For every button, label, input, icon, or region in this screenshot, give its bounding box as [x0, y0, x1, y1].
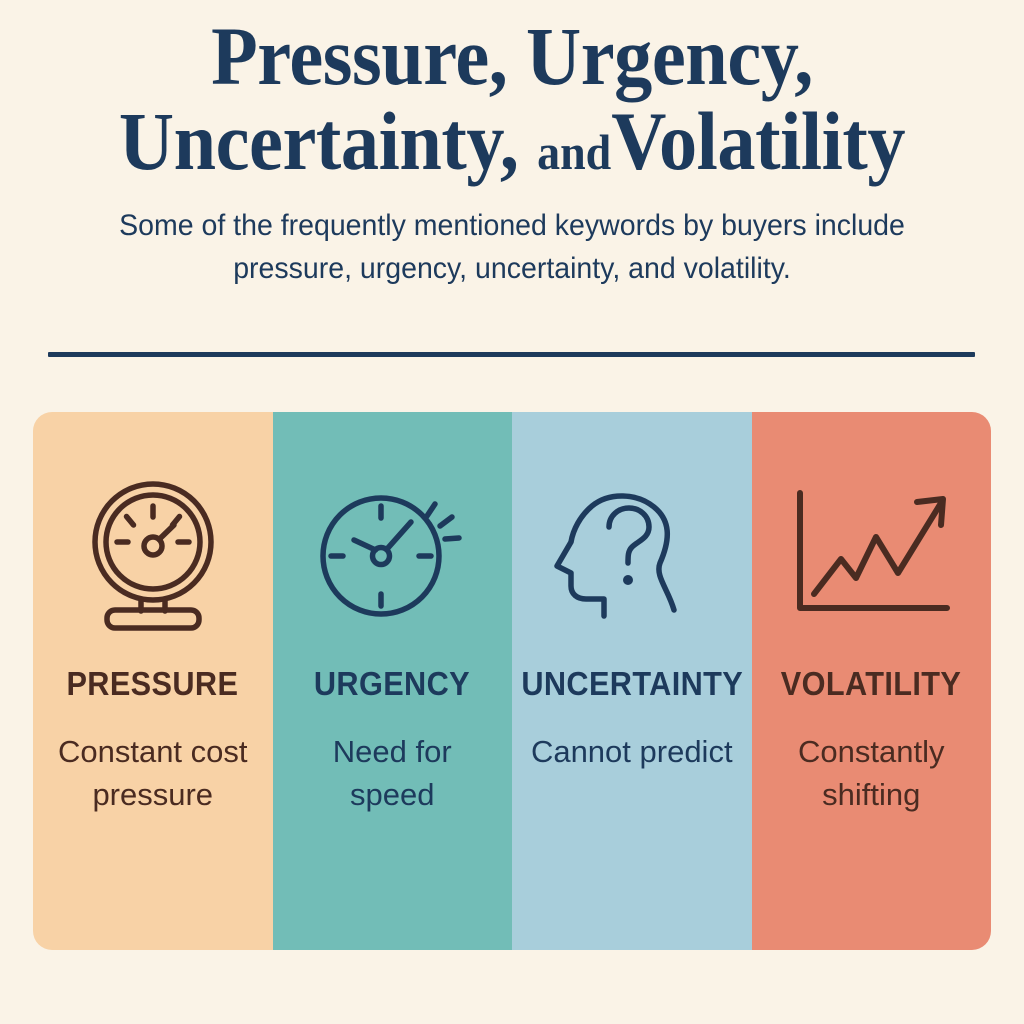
card-title-uncertainty: UNCERTAINTY [521, 665, 743, 703]
header: Pressure, Urgency, Uncertainty, andVolat… [0, 0, 1024, 291]
head-question-mark-icon [549, 468, 714, 643]
card-title-volatility: VOLATILITY [781, 665, 961, 703]
card-uncertainty[interactable]: UNCERTAINTY Cannot predict [512, 412, 752, 950]
card-title-urgency: URGENCY [314, 665, 470, 703]
card-title-pressure: PRESSURE [67, 665, 239, 703]
page-subtitle: Some of the frequently mentioned keyword… [94, 205, 930, 290]
page-title-conjunction: and [537, 124, 611, 180]
gauge-icon [78, 468, 228, 643]
card-description-urgency: Need for speed [290, 731, 495, 817]
zigzag-trend-up-chart-icon [786, 468, 956, 643]
infographic-page: Pressure, Urgency, Uncertainty, andVolat… [0, 0, 1024, 1024]
card-description-volatility: Constantly shifting [769, 731, 974, 817]
card-urgency[interactable]: URGENCY Need for speed [273, 412, 513, 950]
page-title-line-1: Pressure, Urgency, [211, 10, 813, 102]
card-description-uncertainty: Cannot predict [531, 731, 733, 774]
alarm-clock-icon [312, 468, 472, 643]
card-description-pressure: Constant cost pressure [50, 731, 255, 817]
page-title-line-2-part-b: Volatility [611, 95, 905, 187]
page-title-line-2-part-a: Uncertainty, [119, 95, 519, 187]
card-volatility[interactable]: VOLATILITY Constantly shifting [752, 412, 992, 950]
header-divider-rule [48, 352, 975, 357]
page-title: Pressure, Urgency, Uncertainty, andVolat… [69, 14, 956, 183]
keyword-cards-row: PRESSURE Constant cost pressure [33, 412, 991, 950]
card-pressure[interactable]: PRESSURE Constant cost pressure [33, 412, 273, 950]
